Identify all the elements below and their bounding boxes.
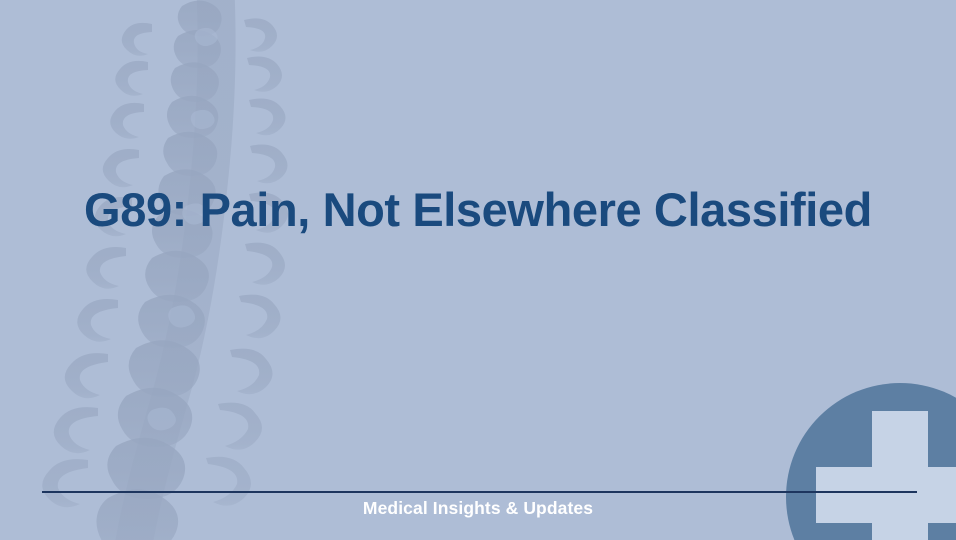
presentation-slide: G89: Pain, Not Elsewhere Classified Medi… bbox=[0, 0, 956, 540]
footer-block: Medical Insights & Updates bbox=[0, 498, 956, 519]
footer-label: Medical Insights & Updates bbox=[0, 498, 956, 519]
page-title: G89: Pain, Not Elsewhere Classified bbox=[60, 184, 896, 236]
footer-divider bbox=[42, 491, 917, 493]
spine-illustration bbox=[0, 0, 956, 540]
title-block: G89: Pain, Not Elsewhere Classified bbox=[0, 184, 956, 236]
medical-cross-circle-icon bbox=[0, 0, 956, 540]
